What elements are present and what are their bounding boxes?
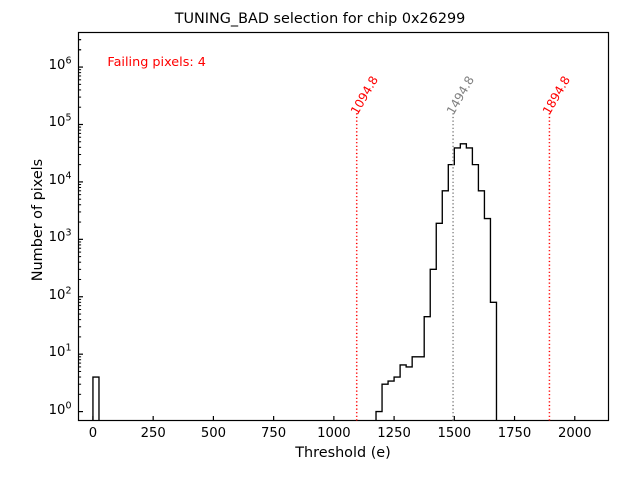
- y-tick-label-3: 103: [49, 230, 72, 245]
- histogram-outline: [93, 144, 497, 421]
- figure-canvas: TUNING_BAD selection for chip 0x26299 Nu…: [0, 0, 640, 480]
- y-tick-label-0: 100: [49, 403, 72, 418]
- y-tick-label-1: 101: [49, 345, 72, 360]
- axes-frame: [79, 33, 609, 421]
- plot-area: [0, 0, 640, 480]
- y-tick-label-6: 106: [49, 58, 72, 73]
- y-tick-label-2: 102: [49, 288, 72, 303]
- failing-pixels-annotation: Failing pixels: 4: [107, 55, 205, 70]
- x-tick-label-8: 2000: [535, 426, 615, 441]
- y-tick-label-4: 104: [49, 173, 72, 188]
- y-tick-label-5: 105: [49, 115, 72, 130]
